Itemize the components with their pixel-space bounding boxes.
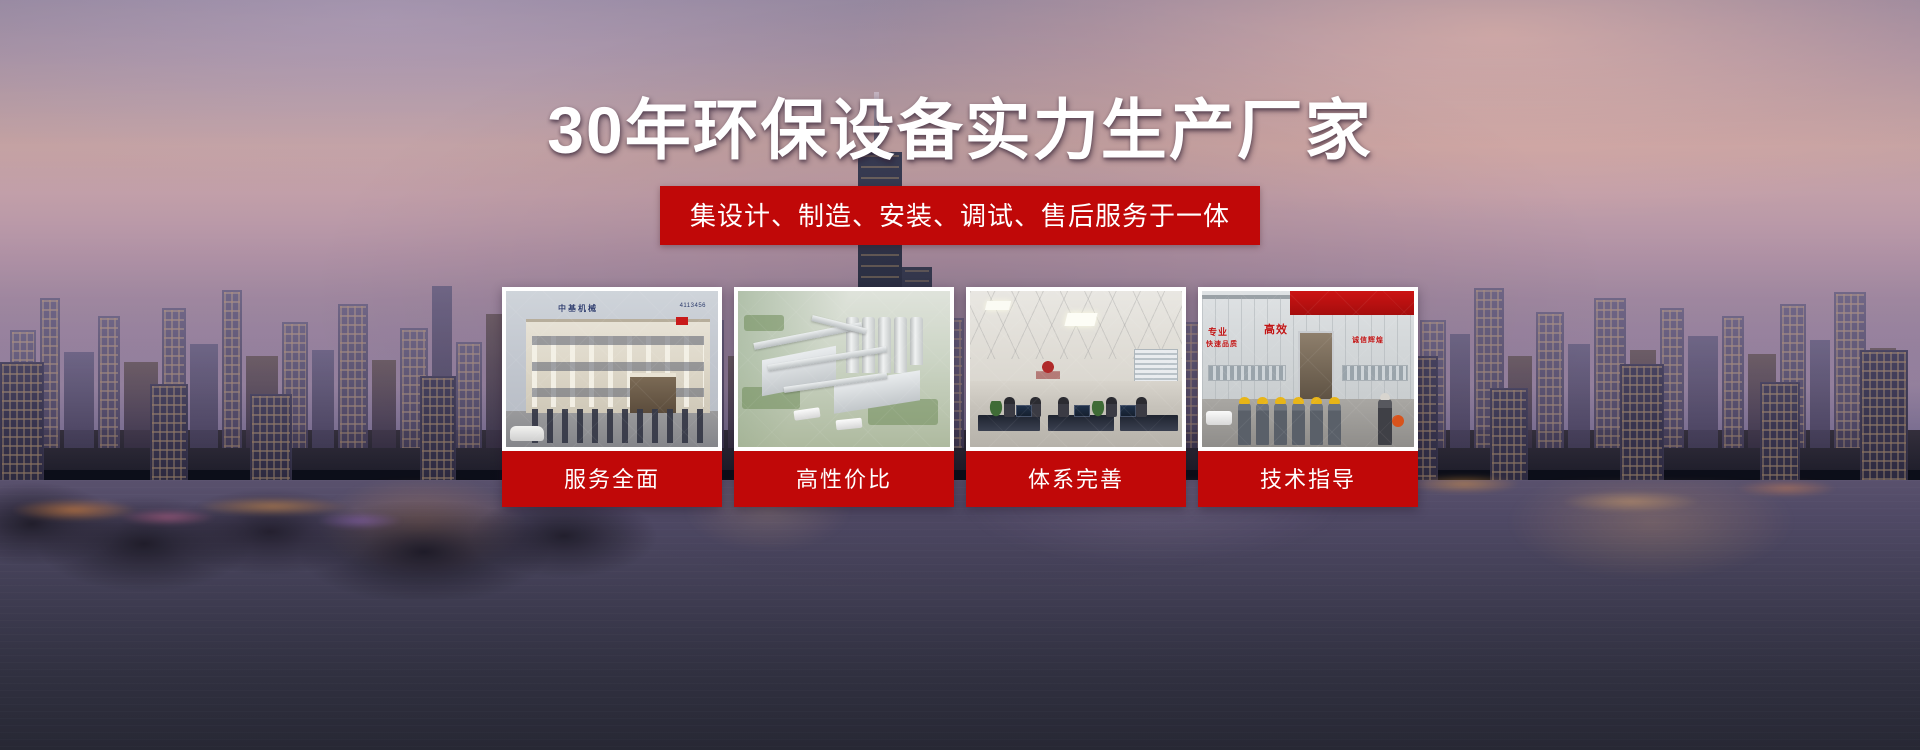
feature-card[interactable]: 专业 高效 快速品质 诚信辉煌 xyxy=(1198,287,1418,507)
feature-cards: 中基机械 4113456 服务全面 xyxy=(502,287,1418,507)
banner-subtitle-bar: 集设计、制造、安装、调试、售后服务于一体 xyxy=(660,186,1260,245)
wall-slogan-4: 诚信辉煌 xyxy=(1352,335,1384,345)
building-phone-text: 4113456 xyxy=(680,303,706,309)
card-caption: 体系完善 xyxy=(966,451,1186,507)
card-photo-headquarters: 中基机械 4113456 xyxy=(506,291,718,447)
factory-banner xyxy=(1290,291,1414,315)
feature-card[interactable]: 高性价比 xyxy=(734,287,954,507)
building-sign-text: 中基机械 xyxy=(558,303,598,314)
wall-slogan-1: 专业 xyxy=(1208,325,1228,338)
wall-slogan-3: 快速品质 xyxy=(1206,339,1238,349)
hero-banner: 30年环保设备实力生产厂家 集设计、制造、安装、调试、售后服务于一体 中基机械 … xyxy=(0,0,1920,750)
card-photo-factory-workers: 专业 高效 快速品质 诚信辉煌 xyxy=(1202,291,1414,447)
card-caption: 高性价比 xyxy=(734,451,954,507)
wall-slogan-2: 高效 xyxy=(1264,321,1288,337)
card-photo-plant-aerial xyxy=(738,291,950,447)
card-caption: 技术指导 xyxy=(1198,451,1418,507)
feature-card[interactable]: 体系完善 xyxy=(966,287,1186,507)
feature-card[interactable]: 中基机械 4113456 服务全面 xyxy=(502,287,722,507)
card-caption: 服务全面 xyxy=(502,451,722,507)
banner-content: 30年环保设备实力生产厂家 集设计、制造、安装、调试、售后服务于一体 中基机械 … xyxy=(0,0,1920,750)
banner-headline: 30年环保设备实力生产厂家 xyxy=(547,96,1372,165)
card-photo-office-interior xyxy=(970,291,1182,447)
